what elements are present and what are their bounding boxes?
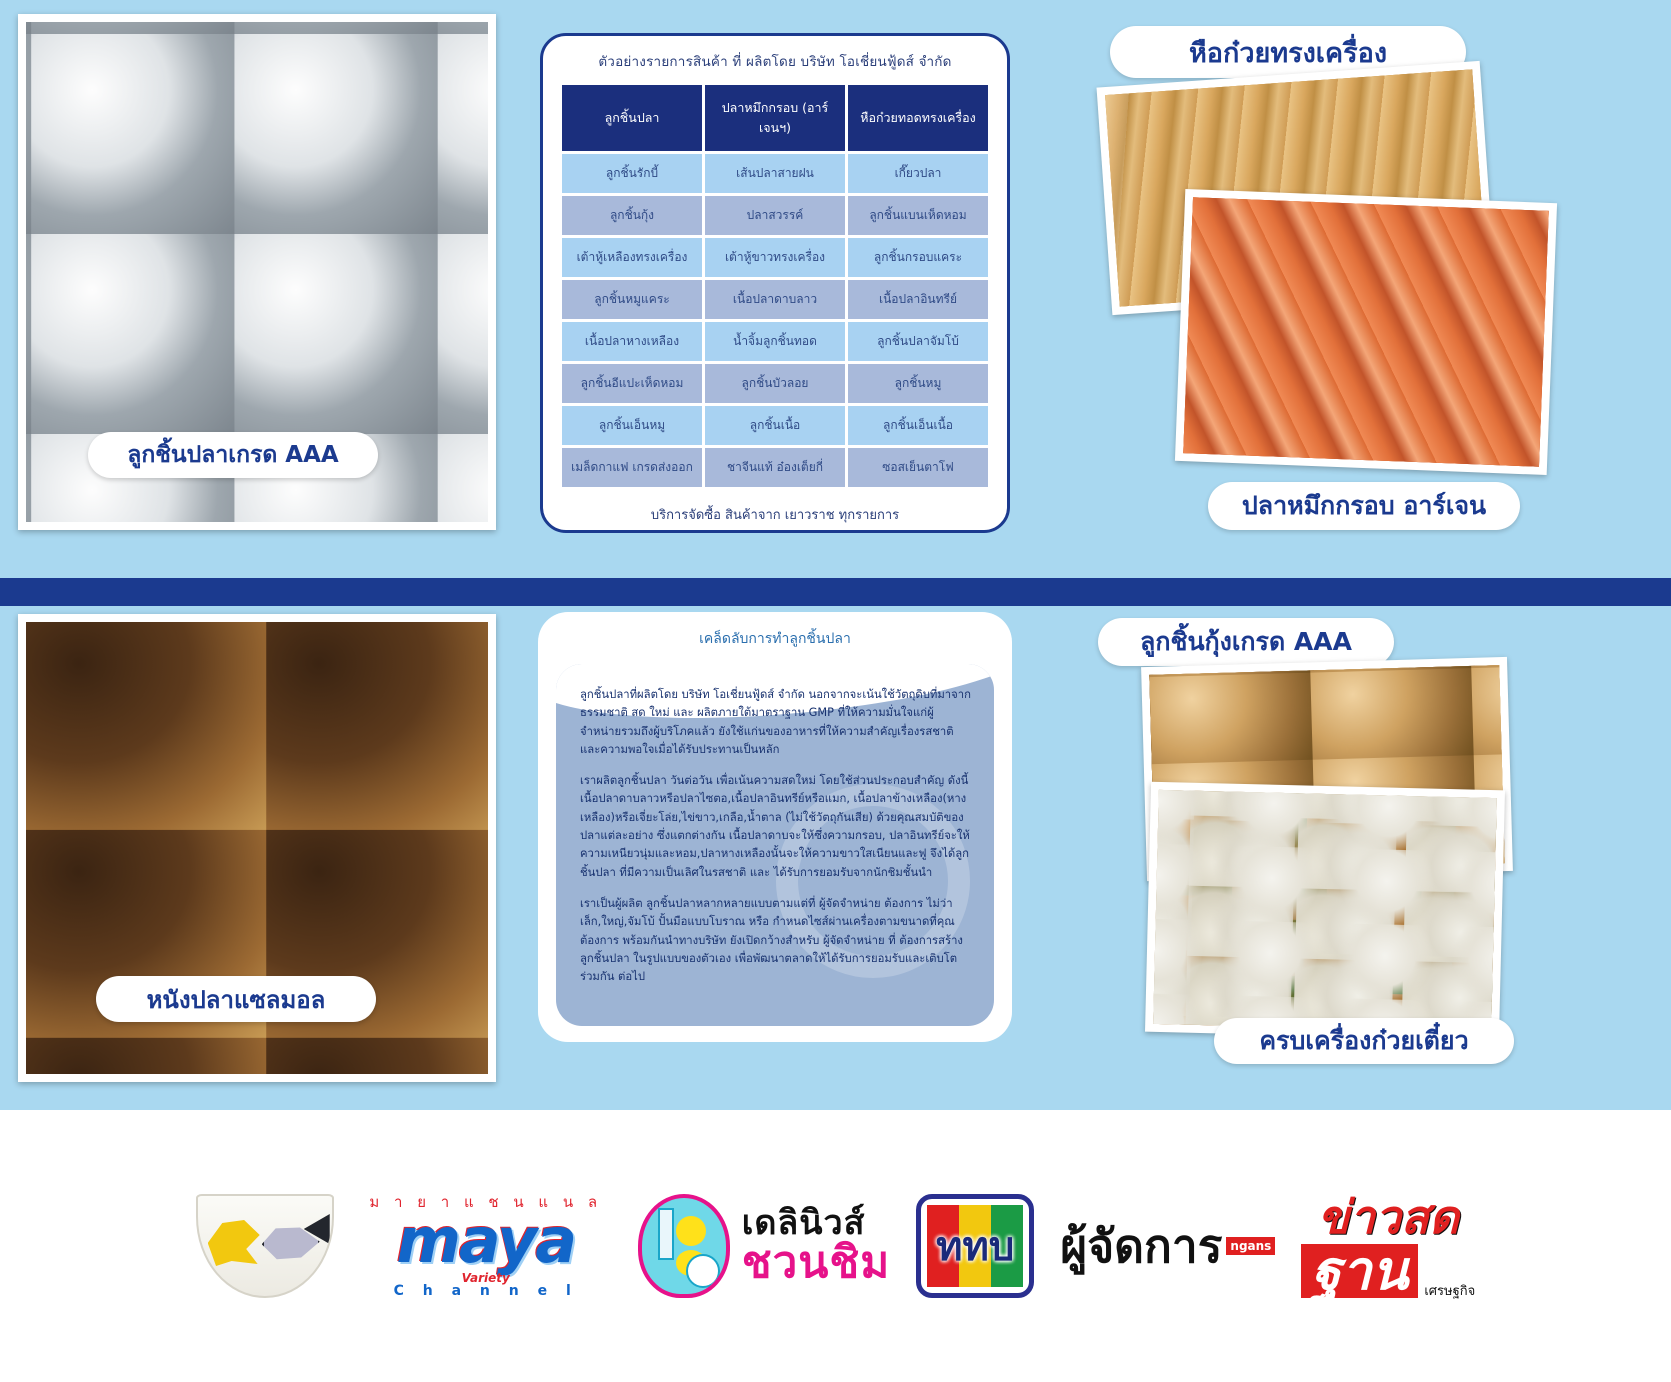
table-cell: ปลาสวรรค์ [705,196,845,235]
caption-fishball-aaa-label: ลูกชิ้นปลาเกรด AAA [127,437,338,473]
product-table-header-cell: ลูกชิ้นปลา [562,85,702,151]
table-cell: ลูกชิ้นกรอบแคระ [848,238,988,277]
table-cell: ลูกชิ้นกุ้ง [562,196,702,235]
yellow-fish-icon [208,1218,260,1268]
product-table-header-row: ลูกชิ้นปลา ปลาหมึกกรอบ (อาร์เจนฯ) หือก๋ว… [562,85,988,151]
table-cell: ลูกชิ้นปลาจัมโบ้ [848,322,988,361]
table-cell: เส้นปลาสายฝน [705,154,845,193]
maya-channel-label: C h a n n e l [360,1284,612,1298]
table-cell: เนื้อปลาดาบลาว [705,280,845,319]
table-cell: เนื้อปลาอินทรีย์ [848,280,988,319]
table-cell: ลูกชิ้นเอ็นหมู [562,406,702,445]
caption-squid-argen: ปลาหมึกกรอบ อาร์เจน [1208,482,1520,530]
caption-shrimpball-aaa: ลูกชิ้นกุ้งเกรด AAA [1098,618,1394,666]
tv5-icon: ททบ [916,1194,1034,1298]
table-row: ลูกชิ้นรักบี้ เส้นปลาสายฝน เกี๊ยวปลา [562,154,988,193]
logo-maya-channel: ม า ย า แ ช น แ น ล maya Variety C h a n… [360,1195,612,1298]
photo-squid-argen [1175,189,1557,475]
table-cell: เต้าหู้เหลืองทรงเครื่อง [562,238,702,277]
product-table-header-cell: ปลาหมึกกรอบ (อาร์เจนฯ) [705,85,845,151]
photo-noodle-soup [1145,782,1505,1041]
logo-dailynews-chuanchim: เดลินิวส์ ชวนชิม [638,1194,891,1298]
glass-icon [658,1208,674,1260]
table-row: ลูกชิ้นหมูแคระ เนื้อปลาดาบลาว เนื้อปลาอิ… [562,280,988,319]
maya-wordmark: maya [360,1210,612,1272]
caption-full-noodle-label: ครบเครื่องก๋วยเตี๋ยว [1259,1021,1468,1061]
logo-fish-bowl [196,1194,334,1298]
grape-icon [686,1254,720,1288]
secret-recipe-card: เคล็ดลับการทำลูกชิ้นปลา ลูกชิ้นปลาที่ผลิ… [538,612,1012,1042]
tv5-glyph-label: ททบ [936,1214,1014,1278]
table-row: ลูกชิ้นอีแปะเห็ดหอม ลูกชิ้นบัวลอย ลูกชิ้… [562,364,988,403]
caption-salmon-skin: หนังปลาแซลมอล [96,976,376,1022]
logo-tv5: ททบ [916,1194,1034,1298]
table-cell: ลูกชิ้นเนื้อ [705,406,845,445]
table-row: เต้าหู้เหลืองทรงเครื่อง เต้าหู้ขาวทรงเคร… [562,238,988,277]
manager-label: ผู้จัดการ [1060,1210,1222,1283]
table-row: ลูกชิ้นเอ็นหมู ลูกชิ้นเนื้อ ลูกชิ้นเอ็นเ… [562,406,988,445]
table-cell: ลูกชิ้นหมู [848,364,988,403]
photo-image-squid [1183,197,1549,466]
caption-salmon-skin-label: หนังปลาแซลมอล [147,980,326,1019]
partner-logo-strip: ม า ย า แ ช น แ น ล maya Variety C h a n… [0,1110,1671,1382]
table-cell: ลูกชิ้นแบนเห็ดหอม [848,196,988,235]
table-cell: เกี๊ยวปลา [848,154,988,193]
table-cell: ลูกชิ้นรักบี้ [562,154,702,193]
table-cell: ชาจีนแท้ อ๋องเต็ยกี่ [705,448,845,487]
secret-paragraph: ลูกชิ้นปลาที่ผลิตโดย บริษัท โอเชี่ยนฟู้ด… [580,686,972,759]
khaosod-label: ข่าวสด [1301,1194,1475,1240]
caption-full-noodle: ครบเครื่องก๋วยเตี๋ยว [1214,1018,1514,1064]
table-cell: ลูกชิ้นบัวลอย [705,364,845,403]
caption-shrimpball-aaa-label: ลูกชิ้นกุ้งเกรด AAA [1140,622,1352,662]
table-cell: ลูกชิ้นเอ็นเนื้อ [848,406,988,445]
table-cell: น้ำจิ้มลูกชิ้นทอด [705,322,845,361]
table-cell: ลูกชิ้นอีแปะเห็ดหอม [562,364,702,403]
secret-recipe-title: เคล็ดลับการทำลูกชิ้นปลา [538,628,1012,650]
table-row: เมล็ดกาแฟ เกรดส่งออก ชาจีนแท้ อ๋องเต็ยกี… [562,448,988,487]
table-cell: ซอสเย็นตาโฟ [848,448,988,487]
logo-khaosod-than: ข่าวสด ฐาน เศรษฐกิจ [1301,1194,1475,1298]
than-sub-label: เศรษฐกิจ [1424,1285,1475,1298]
product-table-card: ตัวอย่างรายการสินค้า ที่ ผลิตโดย บริษัท … [540,33,1010,533]
table-cell: เนื้อปลาหางเหลือง [562,322,702,361]
manager-badge: ngans [1226,1237,1275,1255]
product-table-footnote: บริการจัดซื้อ สินค้าจาก เยาวราช ทุกรายกา… [559,504,991,525]
chuanchim-glass-icon [638,1194,730,1298]
dailynews-label: เดลินิวส์ [742,1206,891,1241]
chuanchim-label: ชวนชิม [742,1241,891,1286]
caption-hoikuay-label: หือก๋วยทรงเครื่อง [1189,31,1387,74]
secret-paragraph: เราผลิตลูกชิ้นปลา วันต่อวัน เพื่อเน้นควา… [580,772,972,882]
secret-recipe-body: ลูกชิ้นปลาที่ผลิตโดย บริษัท โอเชี่ยนฟู้ด… [556,664,994,1026]
table-cell: เต้าหู้ขาวทรงเครื่อง [705,238,845,277]
fish-bowl-icon [196,1194,334,1298]
product-table-header-cell: หือก๋วยทอดทรงเครื่อง [848,85,988,151]
egg-icon [676,1216,706,1246]
section-divider [0,578,1671,606]
table-row: ลูกชิ้นกุ้ง ปลาสวรรค์ ลูกชิ้นแบนเห็ดหอม [562,196,988,235]
product-table: ลูกชิ้นปลา ปลาหมึกกรอบ (อาร์เจนฯ) หือก๋ว… [559,82,991,490]
caption-fishball-aaa: ลูกชิ้นปลาเกรด AAA [88,432,378,478]
photo-image-noodle-soup [1153,790,1497,1032]
logo-manager: ผู้จัดการ ngans [1060,1210,1275,1283]
caption-squid-argen-label: ปลาหมึกกรอบ อาร์เจน [1242,486,1486,526]
secret-paragraph: เราเป็นผู้ผลิต ลูกชิ้นปลาหลากหลายแบบตามแ… [580,895,972,986]
product-table-title: ตัวอย่างรายการสินค้า ที่ ผลิตโดย บริษัท … [559,50,991,72]
table-cell: เมล็ดกาแฟ เกรดส่งออก [562,448,702,487]
table-row: เนื้อปลาหางเหลือง น้ำจิ้มลูกชิ้นทอด ลูกช… [562,322,988,361]
table-cell: ลูกชิ้นหมูแคระ [562,280,702,319]
than-label: ฐาน [1301,1244,1418,1298]
